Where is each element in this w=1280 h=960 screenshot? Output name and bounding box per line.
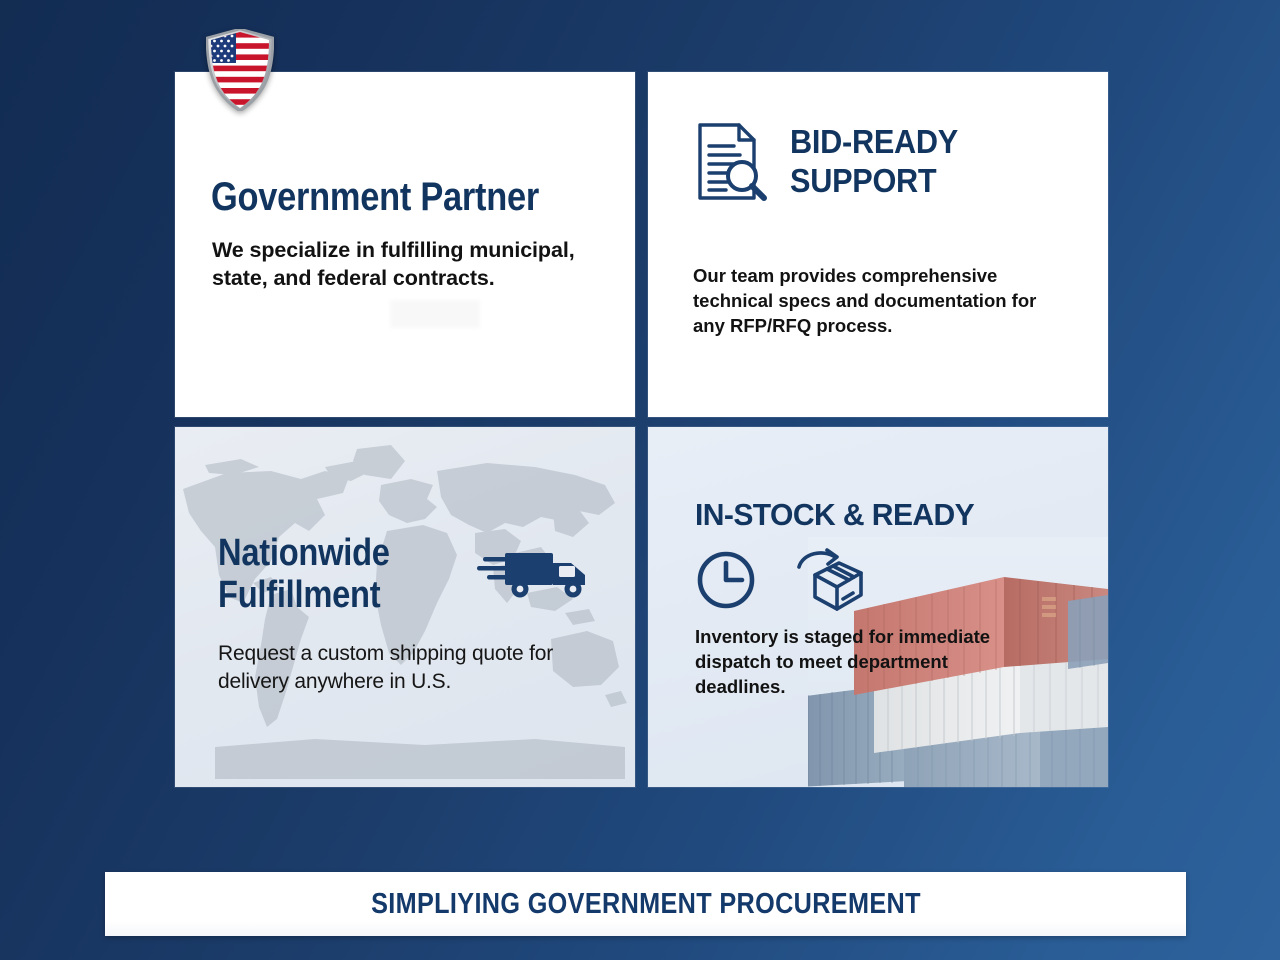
card-nationwide-heading-line1: Nationwide <box>218 532 390 574</box>
tagline-text: SIMPLIYING GOVERNMENT PROCUREMENT <box>371 888 921 921</box>
card-bid-ready-support[interactable]: BID-READY SUPPORT Our team provides comp… <box>648 72 1108 417</box>
clock-icon <box>695 549 757 616</box>
card-nationwide-fulfillment[interactable]: Nationwide Fulfillment Request a custom … <box>175 427 635 787</box>
package-refresh-icon <box>791 547 865 618</box>
card-in-stock-body: Inventory is staged for immediate dispat… <box>695 625 1030 699</box>
faint-watermark <box>390 300 480 328</box>
bid-ready-icon-row: BID-READY SUPPORT <box>694 120 971 209</box>
bottom-tagline-banner: SIMPLIYING GOVERNMENT PROCUREMENT <box>105 872 1186 936</box>
card-bid-ready-body: Our team provides comprehensive technica… <box>693 264 1073 338</box>
card-nationwide-heading: Nationwide Fulfillment <box>218 533 442 617</box>
card-nationwide-body: Request a custom shipping quote for deli… <box>218 640 613 695</box>
card-government-partner-heading: Government Partner <box>211 176 539 218</box>
in-stock-icon-row <box>695 547 865 618</box>
card-in-stock-heading: IN-STOCK & READY <box>695 499 974 532</box>
card-nationwide-heading-line2: Fulfillment <box>218 574 380 616</box>
feature-card-grid: Government Partner We specialize in fulf… <box>175 72 1108 787</box>
us-flag-shield-icon <box>206 29 274 111</box>
delivery-truck-icon <box>475 543 595 603</box>
document-magnifier-icon <box>694 120 768 209</box>
card-government-partner[interactable]: Government Partner We specialize in fulf… <box>175 72 635 417</box>
card-government-partner-body: We specialize in fulfilling municipal, s… <box>212 236 622 293</box>
card-bid-ready-heading-line1: BID-READY <box>790 124 958 159</box>
card-bid-ready-heading-line2: SUPPORT <box>790 163 958 198</box>
slide-canvas: Government Partner We specialize in fulf… <box>0 0 1280 960</box>
card-in-stock-ready[interactable]: IN-STOCK & READY <box>648 427 1108 787</box>
